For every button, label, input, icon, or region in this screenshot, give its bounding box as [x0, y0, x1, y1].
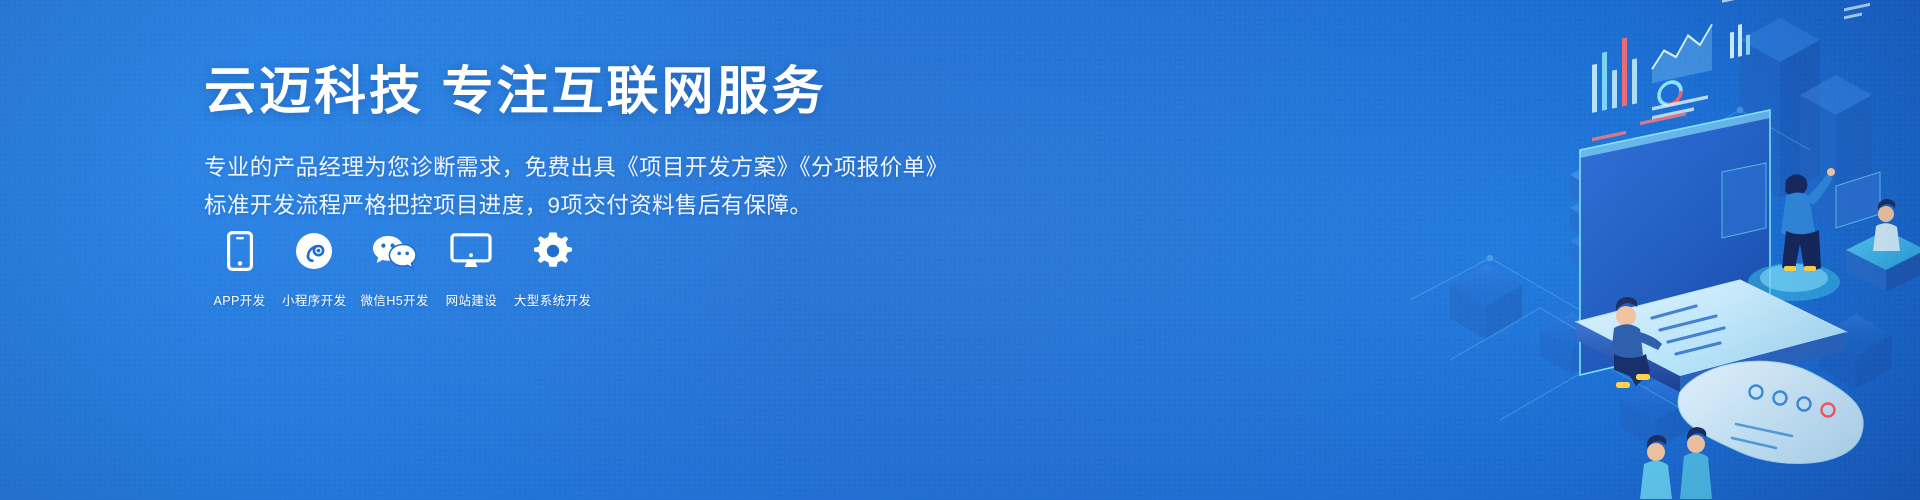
service-item-website[interactable]: 网站建设 — [436, 228, 507, 309]
service-icon-row: APP开发 小程序开发 — [204, 228, 598, 309]
service-label-large-system: 大型系统开发 — [514, 290, 591, 309]
banner-copy: 云迈科技 专注互联网服务 专业的产品经理为您诊断需求，免费出具《项目开发方案》《… — [204, 62, 964, 225]
mini-program-icon — [295, 228, 333, 274]
figure-left — [1640, 435, 1672, 499]
two-figures-group — [1640, 427, 1712, 499]
service-label-mini-program: 小程序开发 — [282, 290, 347, 309]
figure-right — [1680, 427, 1712, 499]
service-item-wechat-h5[interactable]: 微信H5开发 — [354, 228, 436, 309]
subtitle-line-1: 专业的产品经理为您诊断需求，免费出具《项目开发方案》《分项报价单》 — [204, 149, 964, 187]
hero-banner: 云迈科技 专注互联网服务 专业的产品经理为您诊断需求，免费出具《项目开发方案》《… — [0, 0, 1920, 500]
gear-icon — [533, 228, 573, 274]
document-list-widget — [1722, 0, 1762, 3]
mobile-phone-icon — [227, 228, 253, 274]
banner-subtitle: 专业的产品经理为您诊断需求，免费出具《项目开发方案》《分项报价单》 标准开发流程… — [204, 149, 964, 225]
subtitle-line-2: 标准开发流程严格把控项目进度，9项交付资料售后有保障。 — [204, 187, 964, 225]
service-label-app: APP开发 — [213, 290, 265, 309]
service-label-website: 网站建设 — [446, 290, 498, 309]
line-chart-widget — [1652, 24, 1712, 106]
service-label-wechat-h5: 微信H5开发 — [361, 290, 429, 309]
desktop-monitor-icon — [450, 228, 492, 274]
service-item-large-system[interactable]: 大型系统开发 — [507, 228, 598, 309]
bar-chart-widget — [1592, 37, 1637, 112]
wechat-chat-icon — [372, 228, 418, 274]
service-item-mini-program[interactable]: 小程序开发 — [275, 228, 354, 309]
isometric-data-dashboard-illustration — [980, 0, 1920, 500]
page-title: 云迈科技 专注互联网服务 — [204, 62, 964, 123]
service-item-app[interactable]: APP开发 — [204, 228, 275, 309]
